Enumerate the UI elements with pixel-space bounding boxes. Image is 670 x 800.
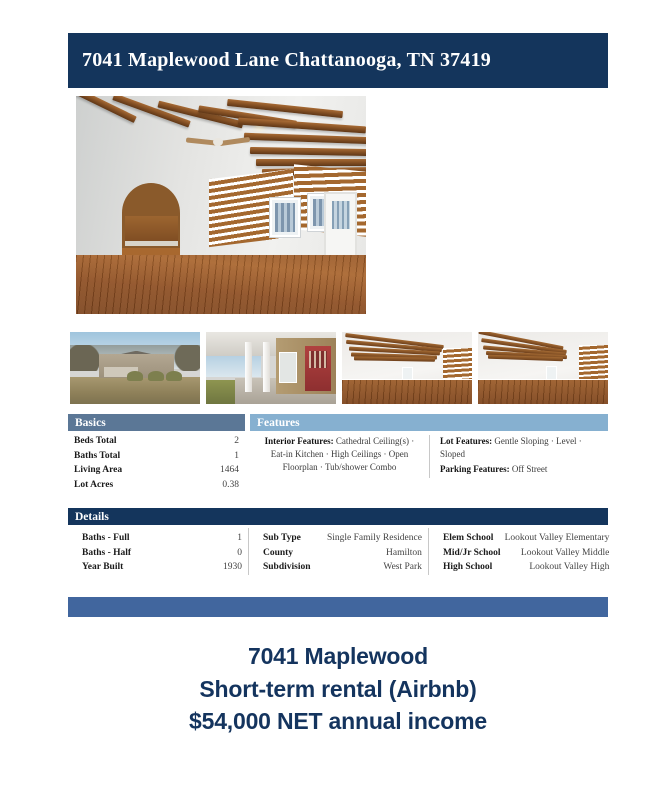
table-row: High School Lookout Valley High (429, 560, 615, 575)
details-label-county: County (249, 546, 317, 561)
thumbnail-porch[interactable] (206, 332, 336, 404)
basics-table: Beds Total 2 Baths Total 1 Living Area 1… (68, 434, 245, 492)
basics-panel: Basics Beds Total 2 Baths Total 1 Living… (68, 414, 245, 492)
pitch-line-income: $54,000 NET annual income (68, 705, 608, 738)
hardwood-floor (76, 255, 366, 314)
lot-features-line: Lot Features: Gentle Sloping · Level · S… (440, 435, 600, 461)
thumbnail-strip (70, 332, 610, 404)
details-value-sub-type: Single Family Residence (317, 531, 428, 546)
parking-features-value: Off Street (512, 464, 548, 474)
section-divider-bar (68, 597, 608, 617)
details-value-county: Hamilton (317, 546, 428, 561)
features-panel: Features Interior Features: Cathedral Ce… (250, 414, 608, 478)
table-row: Baths - Half 0 (68, 546, 248, 561)
details-value-baths-full: 1 (195, 531, 248, 546)
table-row: Baths - Full 1 (68, 531, 248, 546)
details-column-1: Baths - Full 1 Baths - Half 0 Year Built… (68, 528, 248, 575)
panels-row: Basics Beds Total 2 Baths Total 1 Living… (68, 414, 608, 500)
thumbnail-empty-room-2[interactable] (478, 332, 608, 404)
interior-features-label: Interior Features: (265, 436, 334, 446)
features-column-lot: Lot Features: Gentle Sloping · Level · S… (429, 435, 608, 478)
details-label-elem-school: Elem School (429, 531, 503, 546)
details-label-baths-full: Baths - Full (68, 531, 195, 546)
basics-header: Basics (68, 414, 245, 431)
pitch-line-rental: Short-term rental (Airbnb) (68, 673, 608, 706)
features-column-interior: Interior Features: Cathedral Ceiling(s) … (250, 435, 429, 478)
lot-features-label: Lot Features: (440, 436, 492, 446)
details-column-3: Elem School Lookout Valley Elementary Mi… (428, 528, 608, 575)
basics-label-living-area: Living Area (68, 463, 188, 478)
table-row: County Hamilton (249, 546, 428, 561)
details-value-year-built: 1930 (195, 560, 248, 575)
table-row: Sub Type Single Family Residence (249, 531, 428, 546)
basics-value-living-area: 1464 (188, 463, 246, 478)
details-label-mid-school: Mid/Jr School (429, 546, 503, 561)
table-row: Subdivision West Park (249, 560, 428, 575)
ceiling-fan-icon (186, 131, 250, 151)
features-header: Features (250, 414, 608, 431)
table-row: Year Built 1930 (68, 560, 248, 575)
page-title: 7041 Maplewood Lane Chattanooga, TN 3741… (68, 49, 491, 72)
basics-value-lot-acres: 0.38 (188, 478, 246, 493)
property-title-banner: 7041 Maplewood Lane Chattanooga, TN 3741… (68, 33, 608, 88)
interior-features-line: Interior Features: Cathedral Ceiling(s) … (258, 435, 421, 474)
parking-features-line: Parking Features: Off Street (440, 463, 600, 476)
table-row: Elem School Lookout Valley Elementary (429, 531, 615, 546)
parking-features-label: Parking Features: (440, 464, 510, 474)
basics-title: Basics (75, 417, 106, 429)
flyer-page: 7041 Maplewood Lane Chattanooga, TN 3741… (0, 0, 670, 800)
details-value-elem-school: Lookout Valley Elementary (503, 531, 616, 546)
basics-label-baths-total: Baths Total (68, 449, 188, 464)
thumbnail-empty-room-1[interactable] (342, 332, 472, 404)
details-value-subdivision: West Park (317, 560, 428, 575)
features-title: Features (257, 417, 300, 429)
details-body: Baths - Full 1 Baths - Half 0 Year Built… (68, 528, 608, 575)
features-body: Interior Features: Cathedral Ceiling(s) … (250, 435, 608, 478)
thumbnail-exterior[interactable] (70, 332, 200, 404)
details-column-2: Sub Type Single Family Residence County … (248, 528, 428, 575)
details-value-high-school: Lookout Valley High (503, 560, 616, 575)
details-label-year-built: Year Built (68, 560, 195, 575)
details-value-baths-half: 0 (195, 546, 248, 561)
pitch-line-address: 7041 Maplewood (68, 640, 608, 673)
hero-photo (76, 96, 366, 314)
details-panel: Details Baths - Full 1 Baths - Half 0 Ye… (68, 508, 608, 575)
basics-label-lot-acres: Lot Acres (68, 478, 188, 493)
table-row: Mid/Jr School Lookout Valley Middle (429, 546, 615, 561)
table-row: Beds Total 2 (68, 434, 245, 449)
details-value-mid-school: Lookout Valley Middle (503, 546, 616, 561)
table-row: Baths Total 1 (68, 449, 245, 464)
window (270, 198, 300, 237)
investment-pitch: 7041 Maplewood Short-term rental (Airbnb… (68, 640, 608, 738)
details-title: Details (75, 511, 109, 523)
basics-value-baths-total: 1 (188, 449, 246, 464)
table-row: Lot Acres 0.38 (68, 478, 245, 493)
basics-value-beds-total: 2 (188, 434, 246, 449)
archway-to-kitchen (122, 183, 180, 261)
details-header: Details (68, 508, 608, 525)
details-label-high-school: High School (429, 560, 503, 575)
details-label-subdivision: Subdivision (249, 560, 317, 575)
exterior-door (324, 192, 357, 257)
basics-label-beds-total: Beds Total (68, 434, 188, 449)
details-label-sub-type: Sub Type (249, 531, 317, 546)
details-label-baths-half: Baths - Half (68, 546, 195, 561)
table-row: Living Area 1464 (68, 463, 245, 478)
